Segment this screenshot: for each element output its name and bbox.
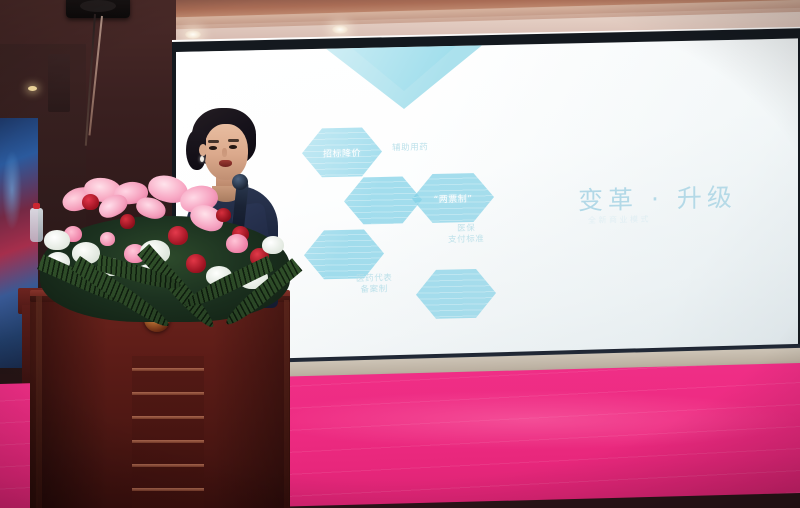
ceiling-speaker-icon	[66, 0, 130, 18]
text-medical-rep-filing: 医药代表 备案制	[356, 273, 392, 297]
water-bottle-cap	[33, 203, 40, 209]
downlight-icon	[185, 30, 201, 39]
presenter-brow	[228, 139, 239, 142]
earring-icon	[200, 156, 204, 162]
wall-lamp-icon	[28, 86, 37, 91]
rose-red	[186, 254, 206, 273]
floor-light-glow	[260, 390, 800, 450]
slide-subtitle: 全新商业模式	[588, 214, 651, 226]
presenter-eye	[209, 146, 217, 150]
hex-texture	[344, 175, 422, 227]
presenter-mouth	[219, 160, 232, 167]
hex-blank-bottom	[416, 267, 496, 321]
presenter-eye	[229, 145, 237, 149]
medrep-line2: 备案制	[356, 285, 392, 297]
hex-bidding-price-cut: 招标降价	[302, 126, 382, 180]
hex-texture	[416, 267, 496, 321]
text-insurance-payment-standard: 医保 支付标准	[448, 223, 484, 247]
hex-blank-upper-mid	[344, 175, 422, 227]
insurance-line2: 支付标准	[448, 235, 484, 247]
conference-photo-scene: 招标降价 “两票制” 辅助用药	[0, 0, 800, 508]
presenter-ear	[199, 144, 207, 156]
text-auxiliary-drugs: 辅助用药	[392, 142, 428, 154]
cyan-chevron-inner	[352, 46, 456, 92]
white-flower	[44, 230, 70, 250]
white-flower	[262, 236, 284, 254]
hex-label: “两票制”	[434, 191, 473, 205]
presenter-nose	[222, 148, 227, 157]
carnation-pink	[100, 232, 115, 246]
rose-red	[82, 194, 99, 210]
slide-main-title: 变革 · 升级	[578, 178, 737, 217]
banner-glow	[2, 150, 22, 230]
rose-red	[168, 226, 188, 245]
hex-two-invoice-system: “两票制”	[412, 171, 494, 225]
presenter-brow	[208, 140, 219, 143]
carnation-pink	[226, 234, 248, 253]
rose-red	[216, 208, 231, 222]
rose-red	[120, 214, 135, 229]
hex-label: 招标降价	[323, 145, 361, 159]
floral-arrangement	[40, 170, 290, 330]
wall-vent	[48, 54, 70, 112]
downlight-icon	[332, 25, 348, 34]
